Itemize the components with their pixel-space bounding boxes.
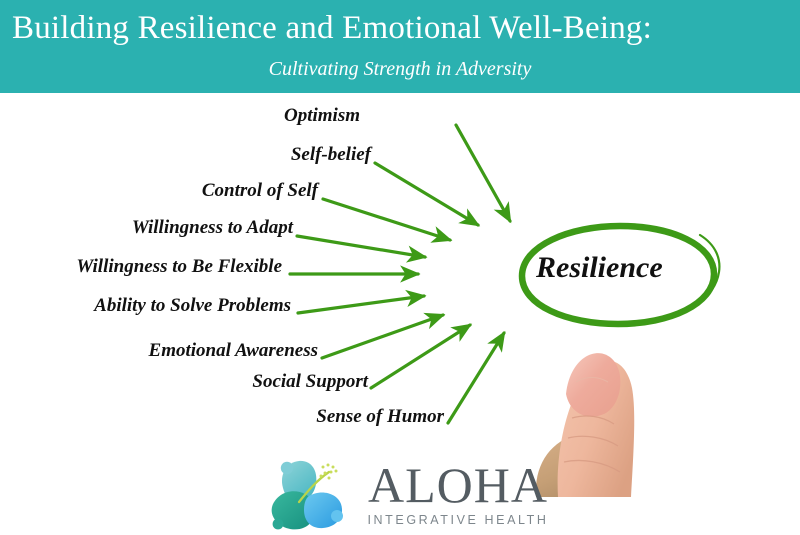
node-label-social-support: Social Support [252, 371, 368, 393]
arrow-willingness-to-adapt [297, 236, 425, 257]
logo-tagline: INTEGRATIVE HEALTH [363, 512, 553, 528]
arrow-control-of-self [323, 199, 450, 240]
center-node-label: Resilience [536, 251, 663, 285]
arrow-self-belief [375, 163, 478, 225]
aloha-logo: ALOHA INTEGRATIVE HEALTH [265, 452, 555, 532]
arrow-optimism [456, 125, 510, 221]
arrow-sense-of-humor [448, 333, 504, 423]
node-label-willingness-to-adapt: Willingness to Adapt [132, 217, 293, 239]
page-subtitle: Cultivating Strength in Adversity [0, 56, 800, 82]
poster-canvas: Building Resilience and Emotional Well-B… [0, 0, 800, 535]
aloha-butterfly-icon [265, 454, 357, 532]
node-label-sense-of-humor: Sense of Humor [316, 406, 444, 428]
page-title: Building Resilience and Emotional Well-B… [0, 8, 800, 48]
arrow-emotional-awareness [322, 315, 443, 358]
arrow-solve-problems [298, 296, 424, 313]
node-label-ability-to-solve-problems: Ability to Solve Problems [94, 295, 291, 317]
header-banner: Building Resilience and Emotional Well-B… [0, 0, 800, 93]
node-label-self-belief: Self-belief [291, 144, 371, 166]
node-label-emotional-awareness: Emotional Awareness [149, 340, 318, 362]
node-label-willingness-to-be-flexible: Willingness to Be Flexible [76, 256, 282, 278]
logo-name: ALOHA [363, 458, 553, 512]
node-label-control-of-self: Control of Self [202, 180, 318, 202]
node-label-optimism: Optimism [284, 105, 360, 127]
aloha-wordmark: ALOHA INTEGRATIVE HEALTH [363, 458, 553, 528]
resilience-diagram: Resilience Optimism Self-belief Control … [0, 93, 800, 455]
